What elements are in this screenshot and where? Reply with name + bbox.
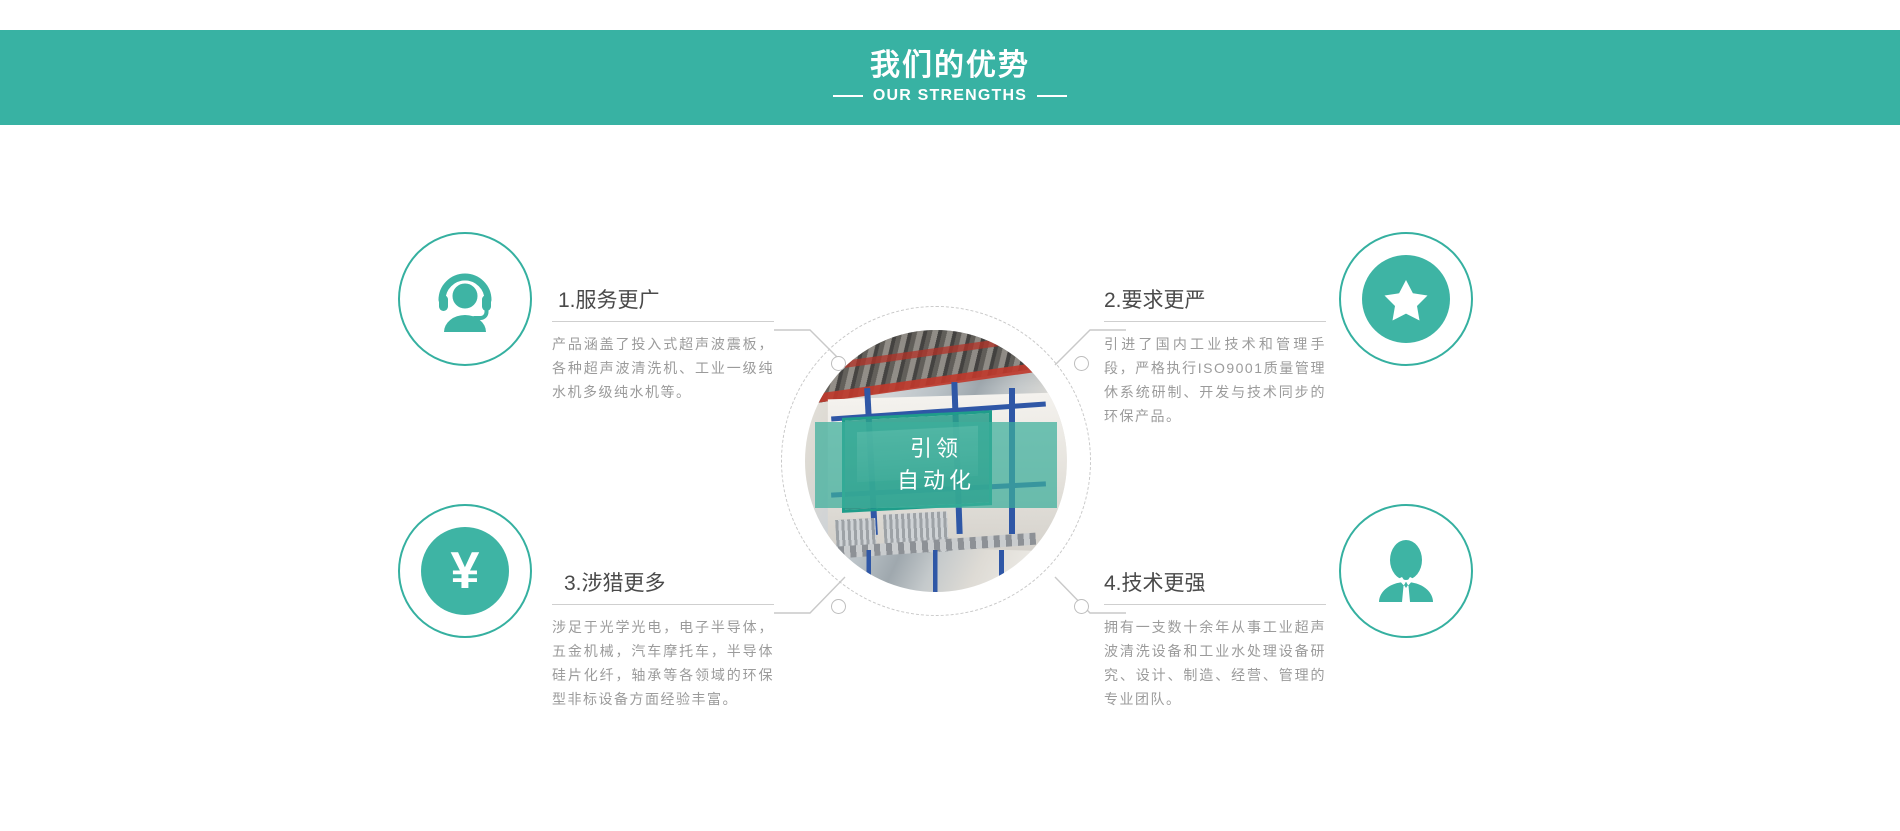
star-icon <box>1384 277 1428 321</box>
overlay-line-2: 自动化 <box>897 465 975 497</box>
block-heading: 2.要求更严 <box>1104 290 1326 321</box>
block-body: 拥有一支数十余年从事工业超声波清洗设备和工业水处理设备研究、设计、制造、经营、管… <box>1104 615 1326 711</box>
strengths-diagram: ¥ 1.服务更广 产品涵盖了投入式超声波震板，各种超声波清洗机、工业一级纯水机多… <box>0 125 1900 831</box>
strength-block-service: 1.服务更广 产品涵盖了投入式超声波震板，各种超声波清洗机、工业一级纯水机多级纯… <box>552 290 774 404</box>
icon-disc: ¥ <box>421 527 509 615</box>
connector-node-top-left <box>831 356 846 371</box>
strength-block-coverage: 3.涉猎更多 涉足于光学光电，电子半导体，五金机械，汽车摩托车，半导体硅片化纤，… <box>552 573 774 711</box>
subtitle-row: OUR STRENGTHS <box>833 88 1067 104</box>
page-title: 我们的优势 <box>870 51 1030 81</box>
center-photo-group: 引领 自动化 <box>805 330 1067 592</box>
photo-overlay-caption: 引领 自动化 <box>815 422 1057 508</box>
divider <box>552 604 774 605</box>
headset-support-icon <box>428 262 502 336</box>
page-subtitle: OUR STRENGTHS <box>873 88 1027 104</box>
block-heading: 1.服务更广 <box>552 290 774 321</box>
connector-node-bottom-left <box>831 599 846 614</box>
overlay-line-1: 引领 <box>910 433 962 465</box>
connector-node-bottom-right <box>1074 599 1089 614</box>
block-heading: 3.涉猎更多 <box>552 573 774 604</box>
divider <box>552 321 774 322</box>
conveyor-legs <box>857 550 1014 592</box>
divider <box>1104 604 1326 605</box>
businessman-icon <box>1369 534 1443 608</box>
icon-circle-technology[interactable] <box>1339 504 1473 638</box>
section-header-banner: 我们的优势 OUR STRENGTHS <box>0 30 1900 125</box>
strength-block-technology: 4.技术更强 拥有一支数十余年从事工业超声波清洗设备和工业水处理设备研究、设计、… <box>1104 573 1326 711</box>
icon-circle-standards[interactable] <box>1339 232 1473 366</box>
icon-circle-service[interactable] <box>398 232 532 366</box>
connector-node-top-right <box>1074 356 1089 371</box>
block-body: 涉足于光学光电，电子半导体，五金机械，汽车摩托车，半导体硅片化纤，轴承等各领域的… <box>552 615 774 711</box>
icon-circle-coverage[interactable]: ¥ <box>398 504 532 638</box>
strength-block-standards: 2.要求更严 引进了国内工业技术和管理手段，严格执行ISO9001质量管理休系统… <box>1104 290 1326 428</box>
yen-currency-icon: ¥ <box>451 545 480 597</box>
factory-photo: 引领 自动化 <box>805 330 1067 592</box>
icon-disc <box>1362 255 1450 343</box>
dash-right-icon <box>1037 95 1067 97</box>
block-heading: 4.技术更强 <box>1104 573 1326 604</box>
divider <box>1104 321 1326 322</box>
block-body: 引进了国内工业技术和管理手段，严格执行ISO9001质量管理休系统研制、开发与技… <box>1104 332 1326 428</box>
dash-left-icon <box>833 95 863 97</box>
block-body: 产品涵盖了投入式超声波震板，各种超声波清洗机、工业一级纯水机多级纯水机等。 <box>552 332 774 404</box>
